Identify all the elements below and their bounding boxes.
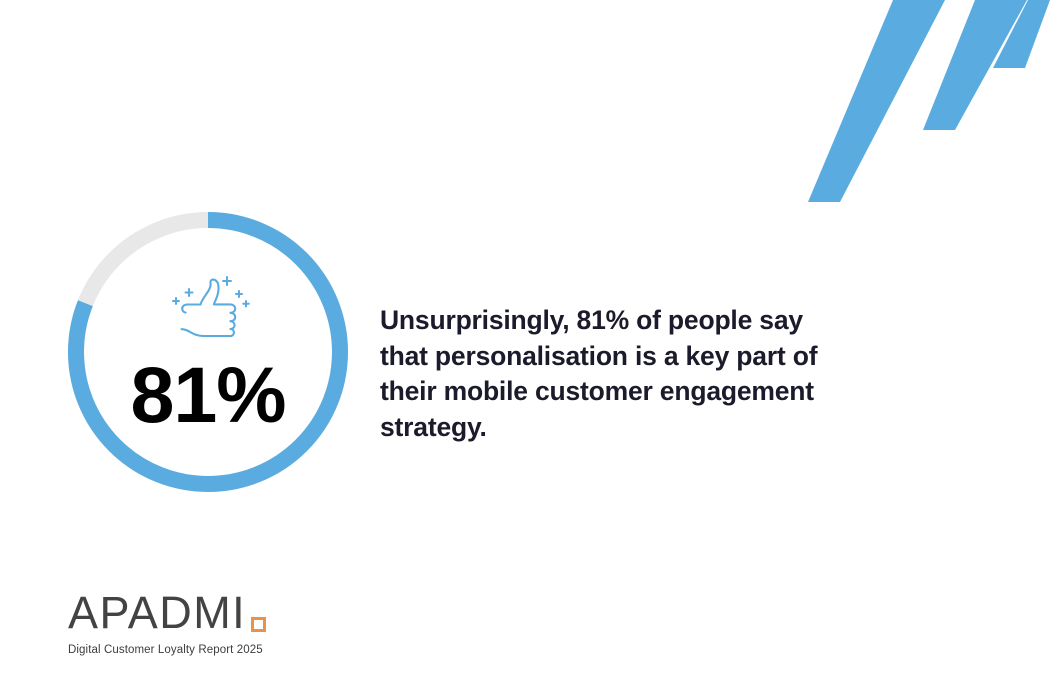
footer-branding: APADMI Digital Customer Loyalty Report 2… bbox=[68, 592, 266, 656]
donut-center-content: 81% bbox=[68, 212, 348, 492]
stripe-group bbox=[808, 0, 1050, 202]
headline-line: Unsurprisingly, 81% of people say bbox=[380, 303, 900, 339]
infographic-slide: 81% Unsurprisingly, 81% of people say th… bbox=[0, 0, 1050, 700]
headline-line: their mobile customer engagement bbox=[380, 374, 900, 410]
headline-text: Unsurprisingly, 81% of people say that p… bbox=[380, 303, 900, 445]
report-caption: Digital Customer Loyalty Report 2025 bbox=[68, 644, 266, 656]
thumbs-up-icon bbox=[167, 271, 253, 351]
diagonal-stripes-decoration bbox=[780, 0, 1050, 230]
orange-square-icon bbox=[251, 617, 266, 632]
stripe-medium-icon bbox=[923, 0, 1027, 130]
stripe-long-icon bbox=[808, 0, 945, 202]
donut-value-label: 81% bbox=[130, 357, 285, 432]
apadmi-wordmark: APADMI bbox=[68, 592, 246, 634]
headline-line: that personalisation is a key part of bbox=[380, 339, 900, 375]
stripe-short-icon bbox=[993, 0, 1050, 68]
apadmi-logo: APADMI bbox=[68, 592, 266, 634]
donut-chart: 81% bbox=[68, 212, 348, 492]
headline-line: strategy. bbox=[380, 410, 900, 446]
